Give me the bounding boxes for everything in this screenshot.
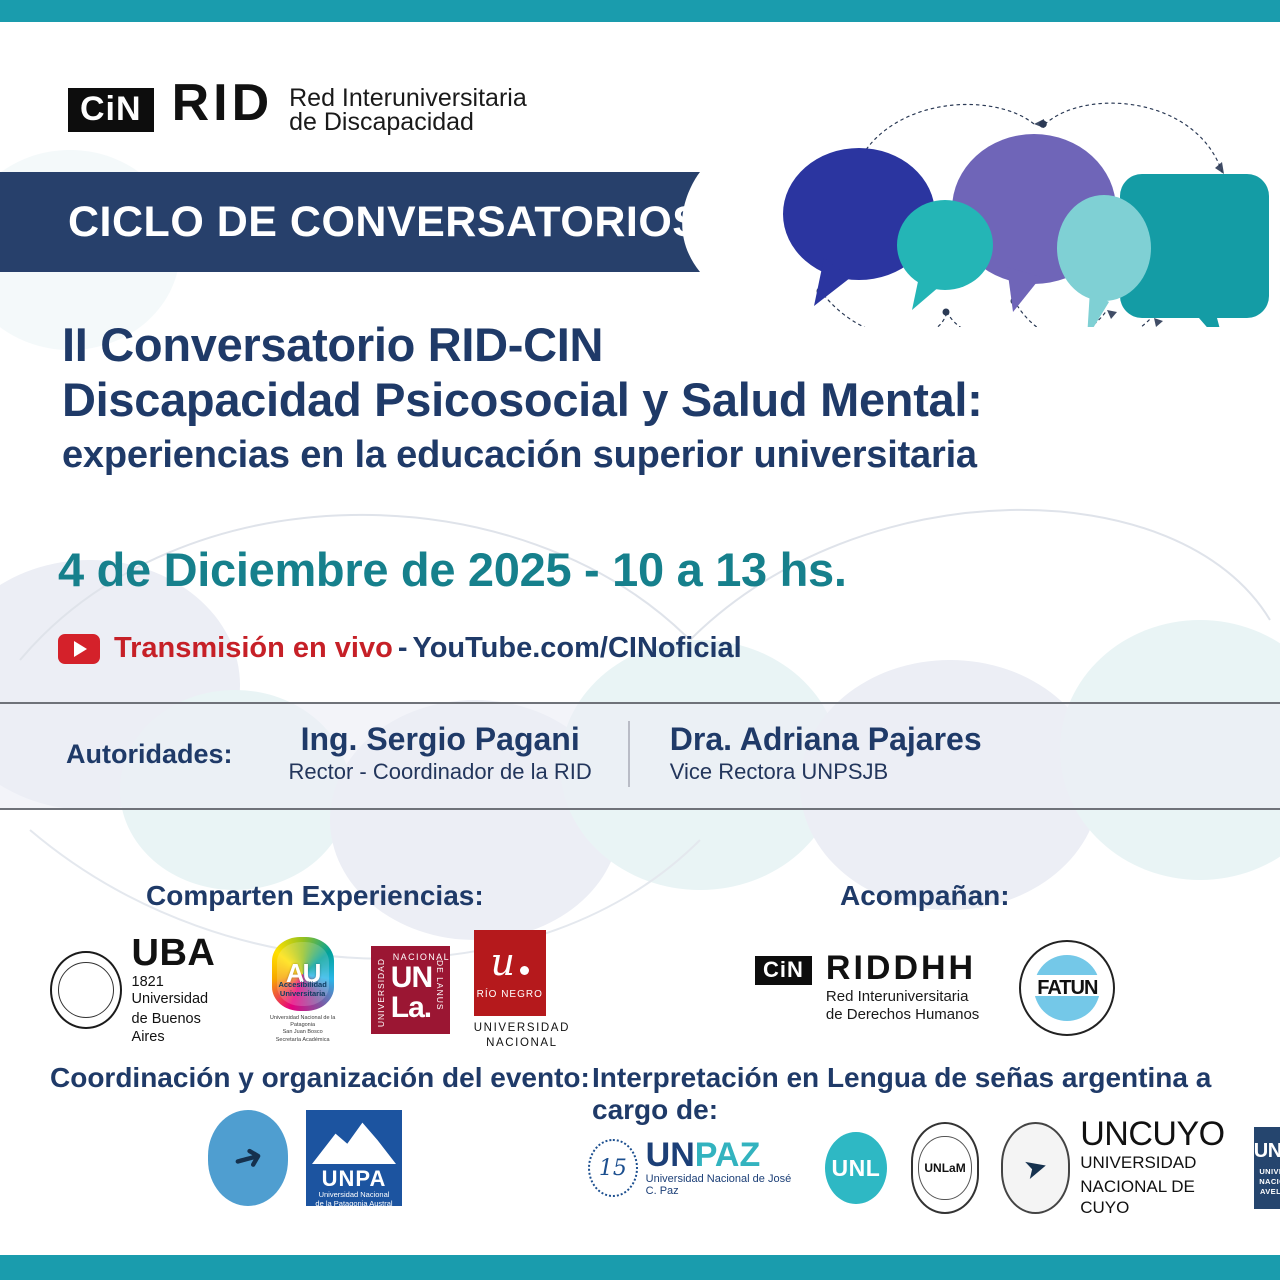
speech-bubbles-graphic — [742, 62, 1280, 327]
unpa-sub-line1: Universidad Nacional — [306, 1190, 402, 1199]
uba-sub-line2: de Buenos Aires — [132, 1011, 235, 1045]
unl-wordmark: UNL — [832, 1155, 881, 1182]
logo-unla: UNIVERSIDAD NACIONAL DE LANUS UN La. — [371, 946, 450, 1034]
authority-name-1: Ing. Sergio Pagani — [289, 721, 592, 758]
au-foot-line2: San Juan Bosco — [261, 1029, 345, 1036]
uncuyo-sub-line2: NACIONAL DE CUYO — [1080, 1177, 1232, 1218]
logo-rio-negro: u RÍO NEGRO UNIVERSIDAD NACIONAL — [474, 930, 570, 1051]
share-logos-row: UBA 1821 Universidad de Buenos Aires AU … — [50, 930, 570, 1051]
cin-logo-mark: CiN — [68, 88, 154, 132]
livestream-label: Transmisión en vivo — [114, 632, 393, 665]
mountain-icon — [312, 1118, 396, 1164]
undav-wordmark: UNDAV — [1254, 1140, 1280, 1163]
accompany-section-title: Acompañan: — [840, 880, 1010, 912]
headline-line-3: experiencias en la educación superior un… — [62, 431, 983, 480]
headline-line-2: Discapacidad Psicosocial y Salud Mental: — [62, 373, 983, 428]
unla-un: UN — [391, 964, 432, 993]
logo-riddhh: CiN RIDDHH Red Interuniversitaria de Der… — [755, 952, 979, 1024]
share-section-title: Comparten Experiencias: — [146, 880, 484, 912]
au-shield-icon: AU Accesibilidad Universitaria — [272, 937, 334, 1011]
rio-negro-dot-icon — [520, 966, 529, 975]
rid-subtitle-line2: de Discapacidad — [289, 108, 527, 136]
livestream-url[interactable]: YouTube.com/CINoficial — [413, 632, 742, 665]
logo-uncuyo: ➤ UNCUYO UNIVERSIDAD NACIONAL DE CUYO — [1001, 1118, 1231, 1219]
coordination-section-title: Coordinación y organización del evento: — [50, 1062, 590, 1094]
accompany-logos-row: CiN RIDDHH Red Interuniversitaria de Der… — [755, 940, 1115, 1036]
authorities-label: Autoridades: — [66, 739, 233, 770]
rio-negro-foot-line1: UNIVERSIDAD — [474, 1021, 570, 1036]
ciclo-band-label: CICLO DE CONVERSATORIOS — [68, 198, 701, 247]
undav-sub-line1: UNIVERSIDAD — [1259, 1167, 1280, 1177]
unpaz-sub: Universidad Nacional de José C. Paz — [646, 1173, 800, 1197]
unpa-wordmark: UNPA — [306, 1166, 402, 1192]
authority-entry-2: Dra. Adriana Pajares Vice Rectora UNPSJB — [628, 721, 982, 786]
au-foot-line3: Secretaría Académica — [261, 1037, 345, 1044]
logo-accesibilidad-universitaria: AU Accesibilidad Universitaria Universid… — [261, 937, 345, 1045]
rid-wordmark: RID — [172, 80, 274, 127]
cin-rid-logo: CiN RID Red Interuniversitaria de Discap… — [68, 88, 527, 136]
logo-unpaz: 15 UNPAZ Universidad Nacional de José C.… — [588, 1139, 799, 1197]
rio-negro-name: RÍO NEGRO — [477, 989, 543, 1000]
logo-fatun: FATUN — [1019, 940, 1115, 1036]
riddhh-cin-mark: CiN — [755, 956, 812, 985]
authorities-content: Autoridades: Ing. Sergio Pagani Rector -… — [0, 702, 1280, 806]
unla-la: La. — [391, 994, 431, 1023]
uncuyo-sub-line1: UNIVERSIDAD — [1080, 1153, 1232, 1174]
rio-negro-u-glyph: u — [491, 940, 515, 984]
au-foot-line1: Universidad Nacional de la Patagonia — [261, 1015, 345, 1030]
bottom-accent-bar — [0, 1255, 1280, 1280]
riddhh-sub-line2: de Derechos Humanos — [826, 1006, 979, 1024]
uncuyo-seal-icon: ➤ — [1001, 1122, 1070, 1214]
unpaz-wordmark: UNPAZ — [646, 1139, 800, 1171]
uba-sub-line1: 1821 Universidad — [132, 974, 235, 1008]
top-accent-bar — [0, 0, 1280, 22]
unla-universidad: UNIVERSIDAD — [376, 958, 386, 1027]
unpaz-anniversary-seal: 15 — [588, 1139, 638, 1197]
rio-negro-foot-line2: NACIONAL — [474, 1036, 570, 1051]
authority-role-2: Vice Rectora UNPSJB — [670, 758, 982, 787]
unlam-wordmark: UNLaM — [924, 1161, 965, 1175]
youtube-icon — [58, 634, 100, 664]
uba-seal-icon — [50, 951, 122, 1029]
riddhh-wordmark: RIDDHH — [826, 952, 979, 984]
undav-sub-line2: NACIONAL DE — [1259, 1177, 1280, 1187]
livestream-line[interactable]: Transmisión en vivo - YouTube.com/CINofi… — [58, 632, 742, 665]
event-poster: CiN RID Red Interuniversitaria de Discap… — [0, 0, 1280, 1280]
livestream-separator: - — [398, 632, 408, 665]
logo-unl: UNL — [825, 1132, 886, 1204]
headline-line-1: II Conversatorio RID-CIN — [62, 318, 983, 373]
unla-de-lanus: DE LANUS — [435, 960, 445, 1011]
logo-unlam: UNLaM — [911, 1122, 980, 1214]
authority-role-1: Rector - Coordinador de la RID — [289, 758, 592, 787]
undav-sub-line3: AVELLANEDA — [1259, 1187, 1280, 1197]
event-datetime: 4 de Diciembre de 2025 - 10 a 13 hs. — [58, 542, 847, 597]
logo-uba: UBA 1821 Universidad de Buenos Aires — [50, 935, 235, 1046]
logo-unpsjb: ➜ — [208, 1110, 288, 1206]
unpa-sub-line2: de la Patagonia Austral — [306, 1199, 402, 1206]
rio-negro-mark: u RÍO NEGRO — [474, 930, 546, 1016]
unpaz-paz: PAZ — [695, 1136, 760, 1174]
authority-entry-1: Ing. Sergio Pagani Rector - Coordinador … — [289, 721, 592, 786]
riddhh-sub-line1: Red Interuniversitaria — [826, 988, 979, 1006]
uba-wordmark: UBA — [132, 935, 235, 971]
albatross-icon: ➜ — [229, 1137, 267, 1180]
unlam-inner-seal: UNLaM — [918, 1136, 972, 1200]
unpaz-un: UN — [646, 1136, 695, 1174]
logo-unpa: UNPA Universidad Nacional de la Patagoni… — [306, 1110, 402, 1206]
interpretation-logos-row: 15 UNPAZ Universidad Nacional de José C.… — [588, 1118, 1280, 1219]
fatun-inner-disc: FATUN — [1034, 955, 1100, 1021]
coordination-logos-row: ➜ UNPA Universidad Nacional de la Patago… — [208, 1110, 402, 1206]
fatun-wordmark: FATUN — [1037, 977, 1097, 1000]
logo-undav: UNDAV UNIVERSIDAD NACIONAL DE AVELLANEDA — [1254, 1127, 1280, 1209]
authority-name-2: Dra. Adriana Pajares — [670, 721, 982, 758]
au-caption-line2: Universitaria — [272, 990, 334, 999]
headline-block: II Conversatorio RID-CIN Discapacidad Ps… — [62, 318, 983, 480]
uncuyo-wordmark: UNCUYO — [1080, 1118, 1232, 1150]
